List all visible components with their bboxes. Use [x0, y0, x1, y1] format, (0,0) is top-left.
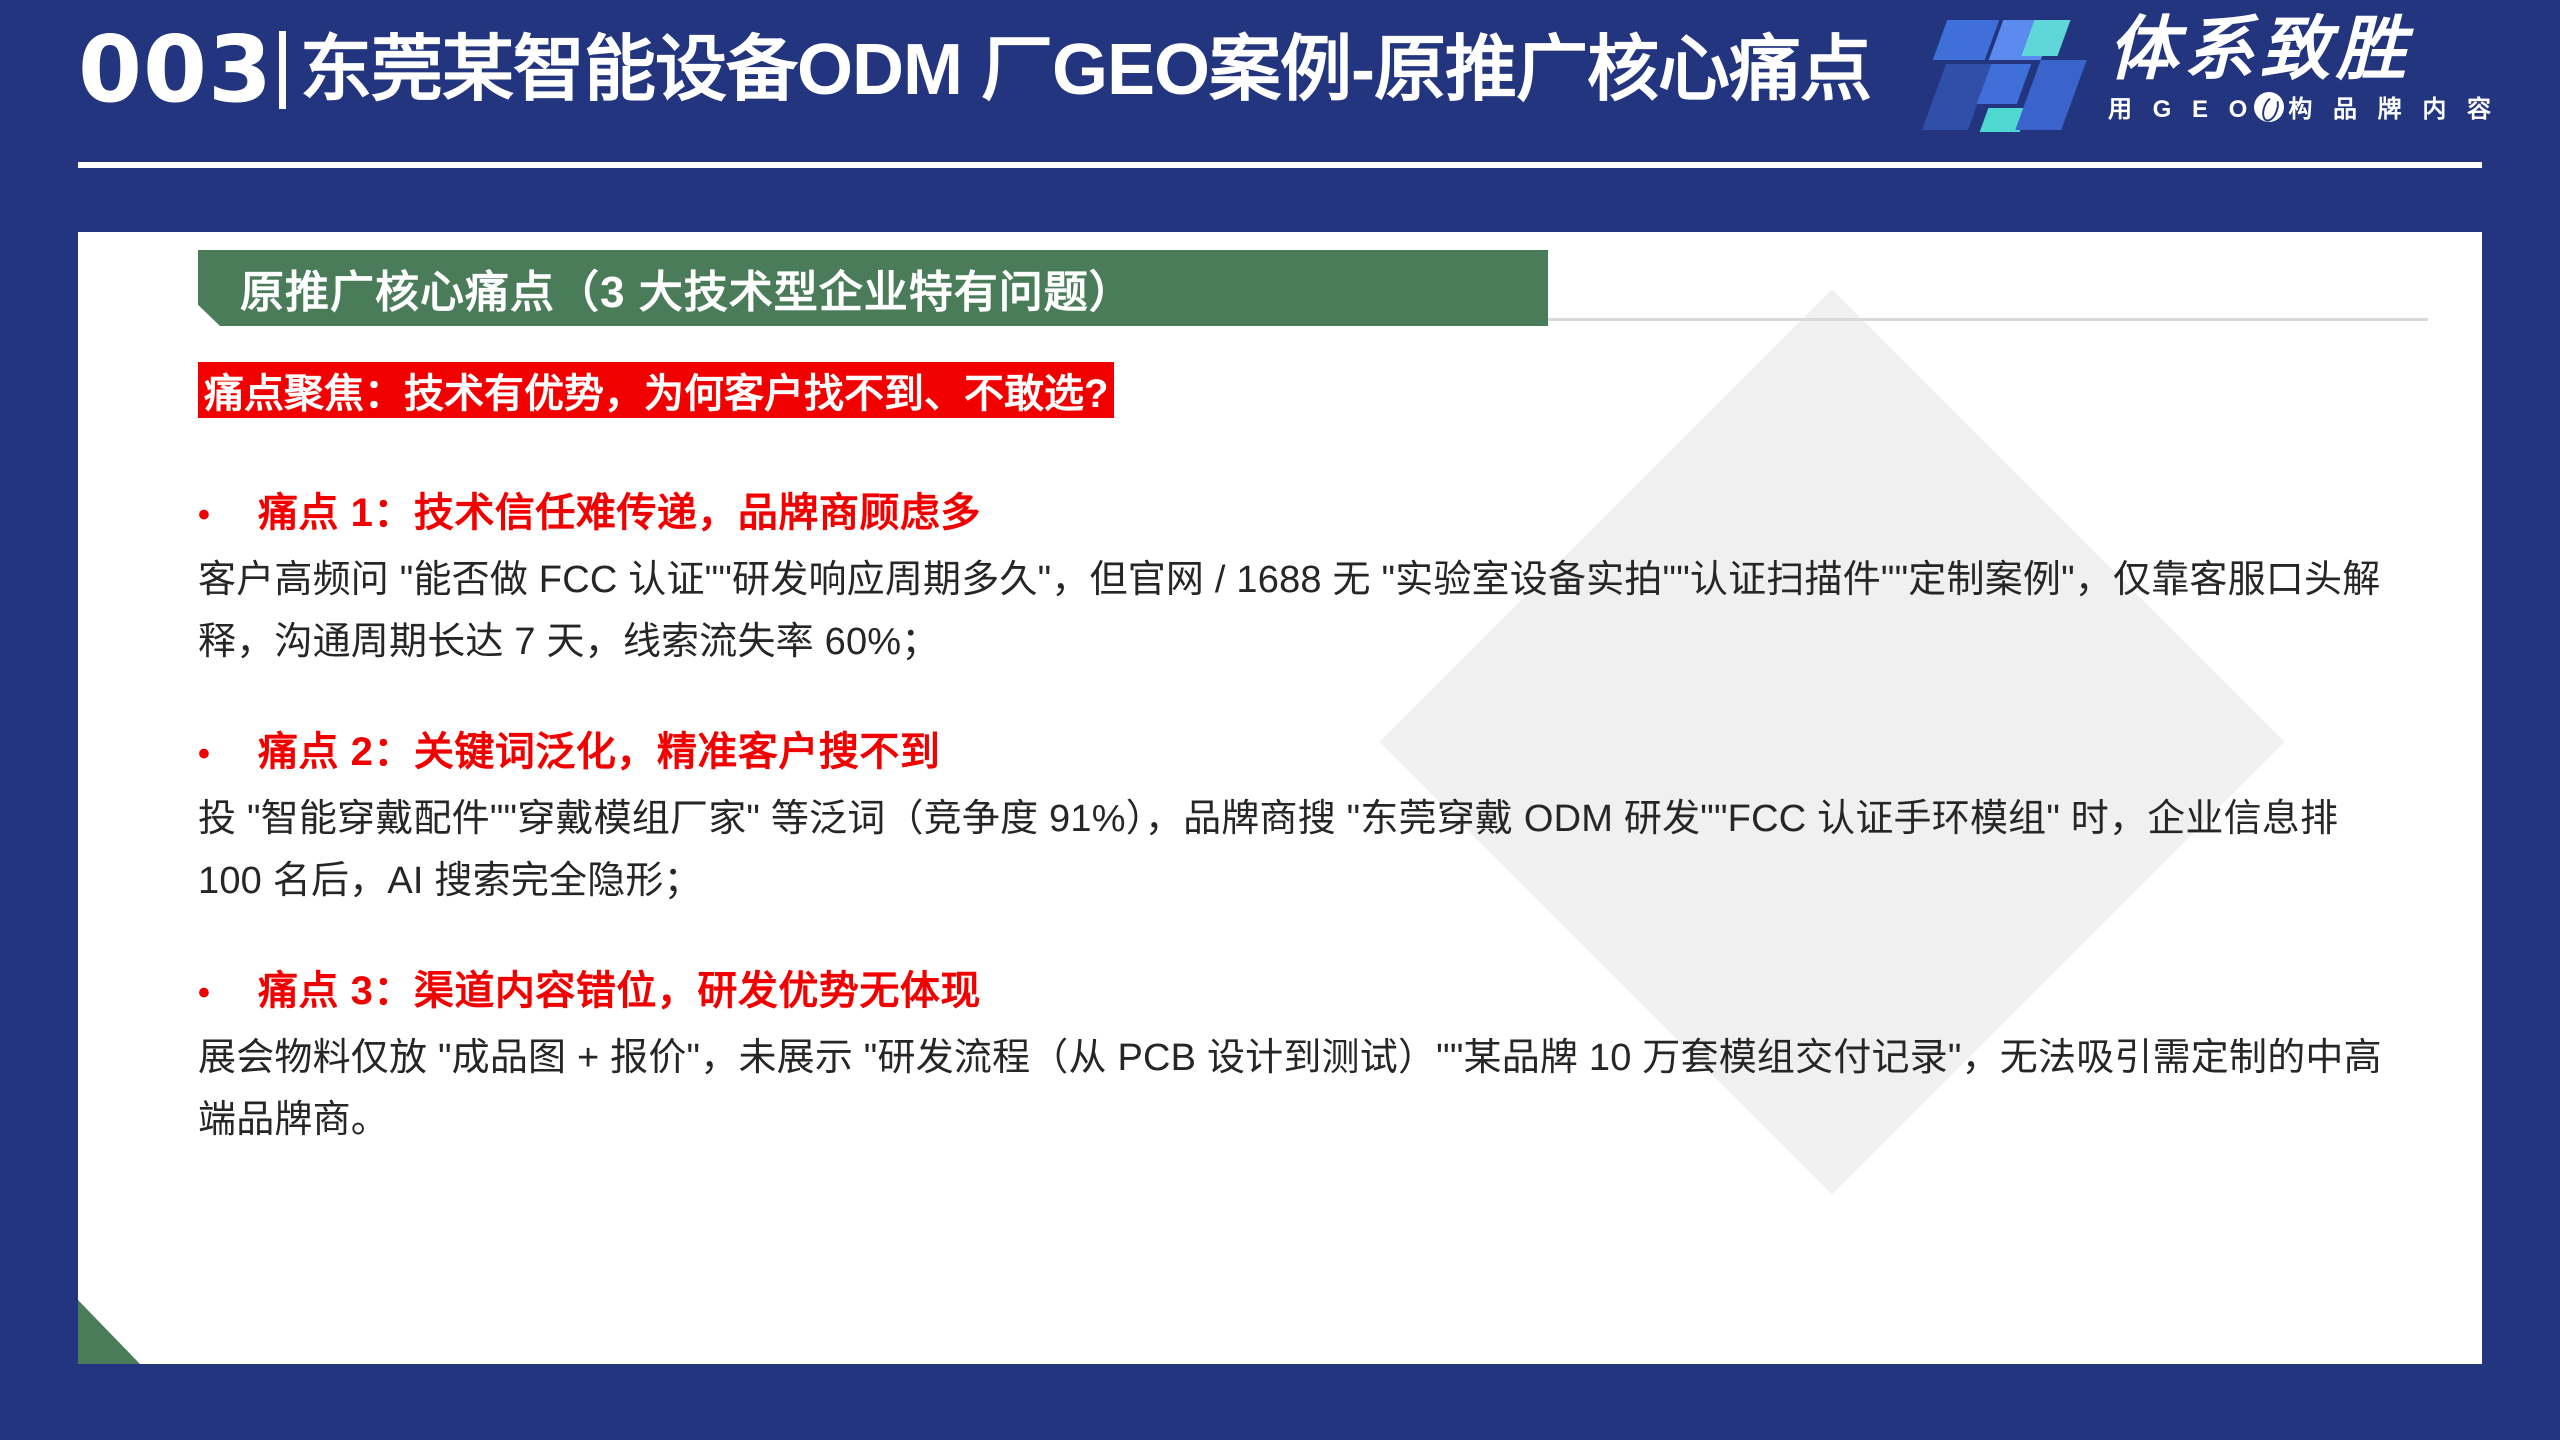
- slide-number: 003: [78, 24, 273, 116]
- pain-point-title: 痛点 3：渠道内容错位，研发优势无体现: [258, 958, 981, 1016]
- geo-globe-icon: [2254, 92, 2284, 122]
- pain-point-heading: • 痛点 3：渠道内容错位，研发优势无体现: [198, 958, 2388, 1016]
- content-card: 原推广核心痛点（3 大技术型企业特有问题） 痛点聚焦：技术有优势，为何客户找不到…: [78, 232, 2482, 1364]
- pain-point-title: 痛点 2：关键词泛化，精准客户搜不到: [258, 719, 940, 777]
- list-item: • 痛点 1：技术信任难传递，品牌商顾虑多 客户高频问 "能否做 FCC 认证"…: [198, 480, 2388, 673]
- pain-point-title: 痛点 1：技术信任难传递，品牌商顾虑多: [258, 480, 981, 538]
- list-item: • 痛点 3：渠道内容错位，研发优势无体现 展会物料仅放 "成品图 + 报价"，…: [198, 958, 2388, 1151]
- pain-point-heading: • 痛点 2：关键词泛化，精准客户搜不到: [198, 719, 2388, 777]
- logo-name: 体系致胜: [2108, 14, 2498, 85]
- focus-highlight-bar: 痛点聚焦：技术有优势，为何客户找不到、不敢选?: [198, 362, 1114, 418]
- section-banner: 原推广核心痛点（3 大技术型企业特有问题）: [198, 250, 1548, 326]
- header-underline: [78, 162, 2482, 168]
- pain-point-body: 展会物料仅放 "成品图 + 报价"，未展示 "研发流程（从 PCB 设计到测试）…: [198, 1028, 2388, 1151]
- logo-text-wrap: 体系致胜 用 G E O 构 品 牌 内 容: [2108, 14, 2498, 124]
- brand-logo: 体系致胜 用 G E O 构 品 牌 内 容: [1926, 14, 2498, 140]
- slide-header: 003 东莞某智能设备ODM 厂GEO案例-原推广核心痛点 体系致胜 用 G E…: [0, 0, 2560, 196]
- bullet-icon: •: [198, 498, 224, 532]
- logo-tagline: 用 G E O 构 品 牌 内 容: [2108, 89, 2498, 124]
- pain-point-heading: • 痛点 1：技术信任难传递，品牌商顾虑多: [198, 480, 2388, 538]
- bullet-icon: •: [198, 976, 224, 1010]
- header-divider: [279, 31, 286, 109]
- section-banner-title: 原推广核心痛点（3 大技术型企业特有问题）: [198, 256, 1134, 320]
- section-banner-rule: [1548, 318, 2428, 321]
- section-banner-row: 原推广核心痛点（3 大技术型企业特有问题）: [198, 250, 2438, 326]
- slide-root: 003 东莞某智能设备ODM 厂GEO案例-原推广核心痛点 体系致胜 用 G E…: [0, 0, 2560, 1440]
- logo-mark-icon: [1926, 14, 2096, 134]
- list-item: • 痛点 2：关键词泛化，精准客户搜不到 投 "智能穿戴配件""穿戴模组厂家" …: [198, 719, 2388, 912]
- card-corner-notch: [78, 1300, 140, 1364]
- pain-point-body: 投 "智能穿戴配件""穿戴模组厂家" 等泛词（竞争度 91%），品牌商搜 "东莞…: [198, 789, 2388, 912]
- bullet-icon: •: [198, 737, 224, 771]
- focus-highlight-text: 痛点聚焦：技术有优势，为何客户找不到、不敢选?: [204, 361, 1108, 419]
- logo-tagline-right: 构 品 牌 内 容: [2288, 89, 2498, 124]
- page-title: 东莞某智能设备ODM 厂GEO案例-原推广核心痛点: [300, 34, 1871, 106]
- pain-point-body: 客户高频问 "能否做 FCC 认证""研发响应周期多久"，但官网 / 1688 …: [198, 550, 2388, 673]
- header-title-row: 003 东莞某智能设备ODM 厂GEO案例-原推广核心痛点: [78, 14, 1871, 126]
- pain-point-list: • 痛点 1：技术信任难传递，品牌商顾虑多 客户高频问 "能否做 FCC 认证"…: [198, 480, 2388, 1151]
- logo-tagline-left: 用 G E O: [2108, 89, 2254, 124]
